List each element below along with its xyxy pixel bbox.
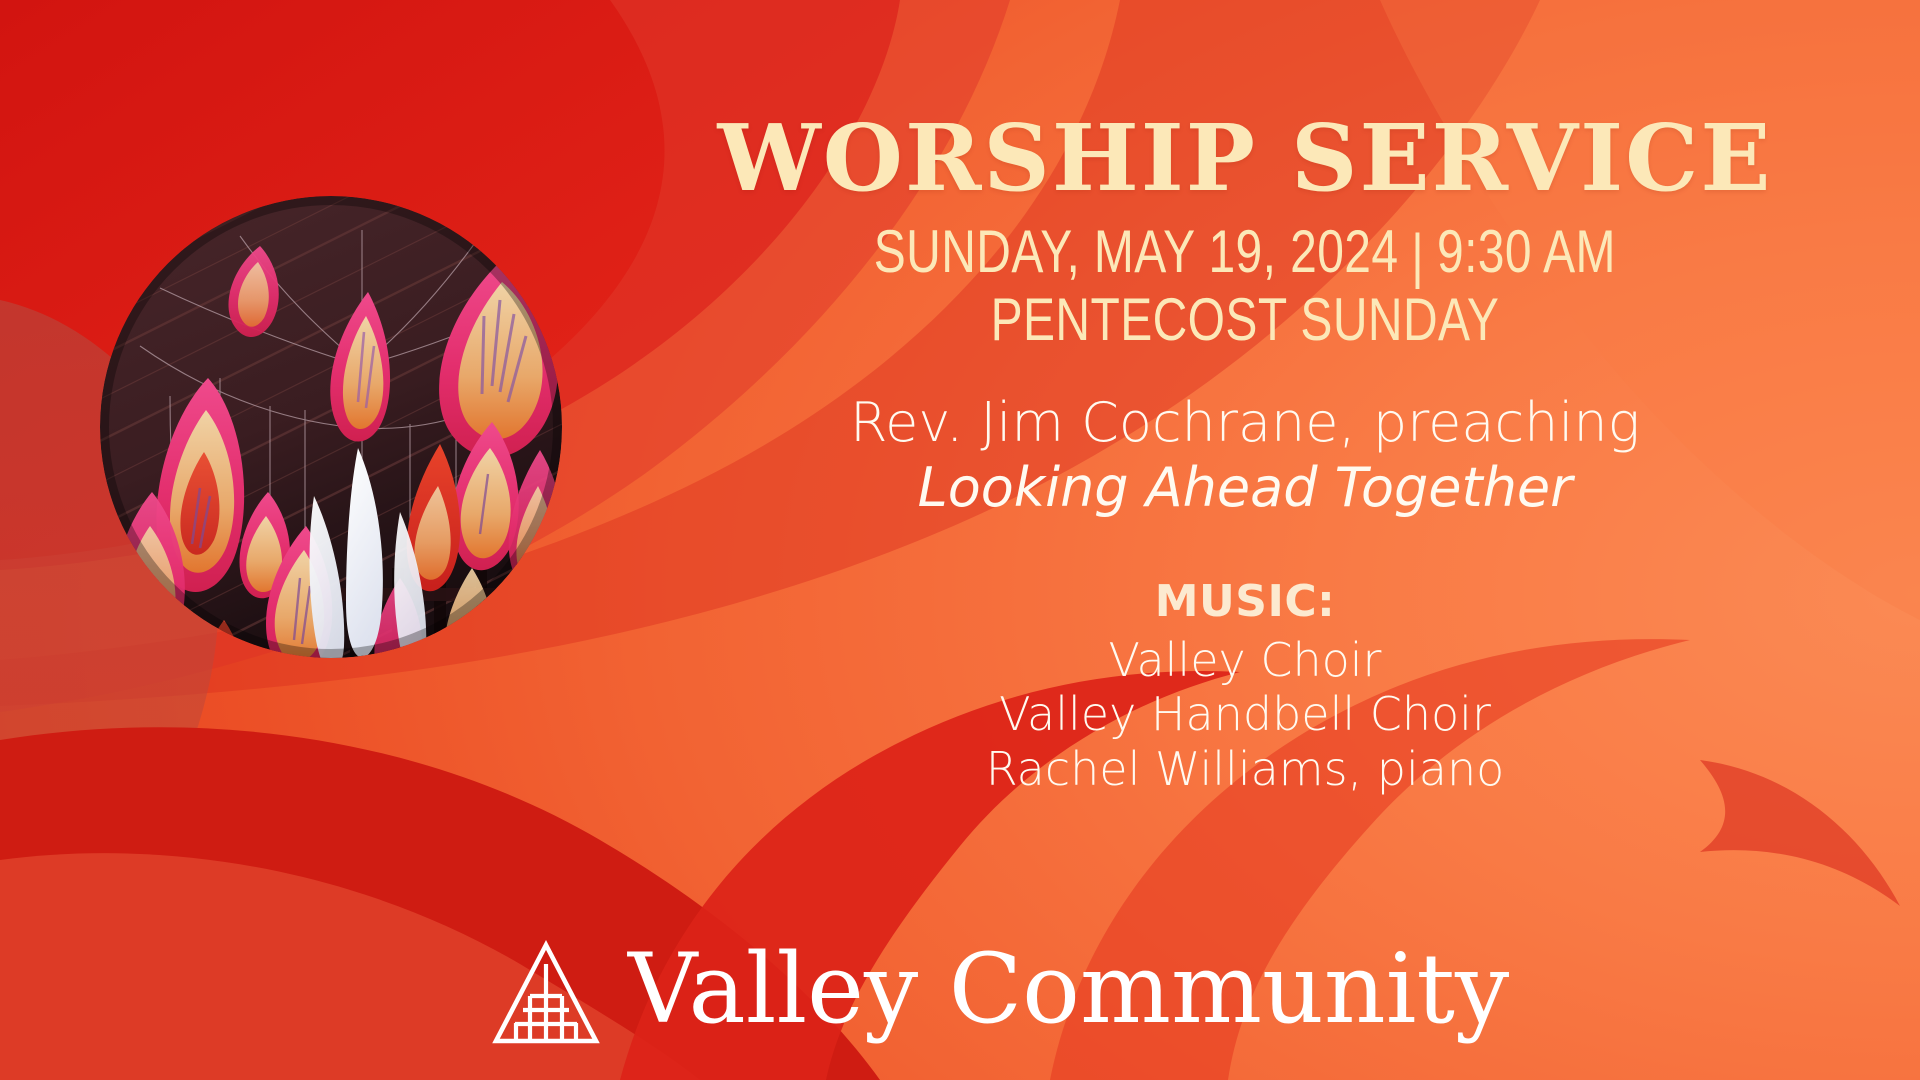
service-time: 9:30 AM — [1437, 218, 1616, 285]
preacher-line: Rev. Jim Cochrane, preaching — [850, 393, 1640, 453]
music-item: Rachel Williams, piano — [986, 742, 1505, 797]
service-date: SUNDAY, MAY 19, 2024 — [874, 218, 1399, 285]
church-logo: Valley Community — [490, 940, 1509, 1046]
music-item: Valley Choir — [986, 633, 1505, 688]
poster-canvas: WORSHIP SERVICE SUNDAY, MAY 19, 2024|9:3… — [0, 0, 1920, 1080]
pentecost-mobile-photo — [100, 196, 562, 658]
music-item: Valley Handbell Choir — [986, 687, 1505, 742]
valley-community-triangle-lattice-icon — [490, 940, 602, 1046]
music-heading: MUSIC: — [1155, 578, 1335, 626]
sermon-title: Looking Ahead Together — [918, 458, 1573, 518]
datetime-separator: | — [1411, 224, 1424, 288]
content-column: WORSHIP SERVICE SUNDAY, MAY 19, 2024|9:3… — [600, 0, 1890, 1080]
service-occasion: PENTECOST SUNDAY — [991, 288, 1500, 352]
photo-illustration — [100, 196, 562, 658]
service-datetime: SUNDAY, MAY 19, 2024|9:30 AM — [874, 220, 1616, 284]
page-title: WORSHIP SERVICE — [717, 112, 1772, 204]
music-list: Valley Choir Valley Handbell Choir Rache… — [986, 633, 1505, 797]
logo-wordmark: Valley Community — [628, 941, 1509, 1037]
